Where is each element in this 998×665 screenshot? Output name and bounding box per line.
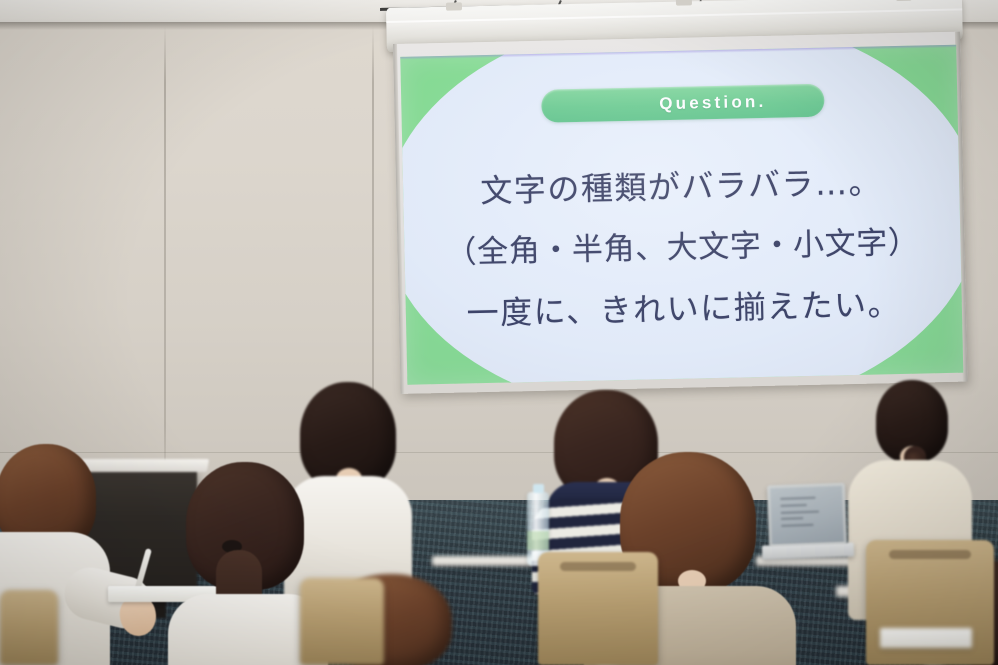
chair-handle-slot <box>889 550 971 559</box>
question-badge: Question. <box>541 84 825 123</box>
wall-trim-line <box>0 452 998 453</box>
slide-text-line-3: 一度に、きれいに揃えたい。 <box>405 273 962 346</box>
laptop <box>767 483 847 548</box>
slide-body-text: 文字の種類がバラバラ…。 （全角・半角、大文字・小文字） 一度に、きれいに揃えた… <box>403 151 963 346</box>
laptop-screen <box>770 486 844 544</box>
chair-handle-slot <box>560 562 637 571</box>
desk-row-back <box>432 556 542 566</box>
housing-bracket <box>896 0 912 1</box>
seminar-room-photo: Question. 文字の種類がバラバラ…。 （全角・半角、大文字・小文字） 一… <box>0 0 998 665</box>
housing-groove <box>386 8 962 23</box>
housing-bracket <box>446 2 462 10</box>
chair <box>538 552 658 665</box>
desk-papers <box>880 628 972 648</box>
bottle-label <box>527 531 549 550</box>
housing-bracket <box>676 0 692 6</box>
wall-panel-seam <box>164 26 166 496</box>
chair <box>0 590 58 665</box>
lectern-top-surface <box>74 459 209 472</box>
projection-screen: Question. 文字の種類がバラバラ…。 （全角・半角、大文字・小文字） 一… <box>393 32 968 394</box>
question-badge-label: Question. <box>599 91 767 115</box>
bottle-cap <box>533 484 544 493</box>
chair <box>300 578 384 665</box>
projected-slide: Question. 文字の種類がバラバラ…。 （全角・半角、大文字・小文字） 一… <box>400 45 963 385</box>
